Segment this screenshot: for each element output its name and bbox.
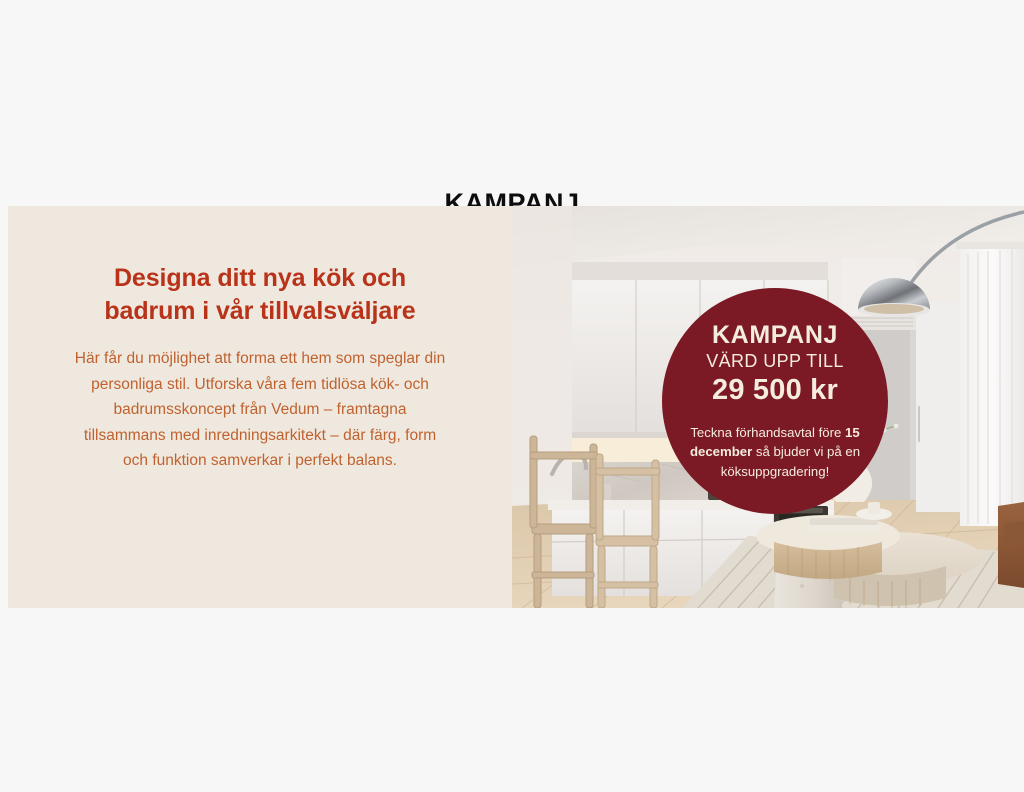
badge-title: KAMPANJ — [712, 321, 838, 349]
campaign-body-text: Här får du möjlighet att forma ett hem s… — [74, 346, 446, 474]
campaign-photo: KAMPANJ VÄRD UPP TILL 29 500 kr Teckna f… — [512, 206, 1024, 608]
campaign-heading: Designa ditt nya kök och badrum i vår ti… — [80, 262, 440, 328]
campaign-card: Designa ditt nya kök och badrum i vår ti… — [8, 206, 1024, 608]
campaign-text-panel: Designa ditt nya kök och badrum i vår ti… — [8, 206, 512, 608]
badge-subtitle: VÄRD UPP TILL — [706, 350, 844, 373]
badge-note-before: Teckna förhandsavtal före — [690, 425, 845, 440]
badge-amount: 29 500 kr — [712, 374, 838, 407]
badge-note: Teckna förhandsavtal före 15 december så… — [682, 423, 868, 482]
campaign-badge: KAMPANJ VÄRD UPP TILL 29 500 kr Teckna f… — [662, 288, 888, 514]
campaign-page: KAMPANJ Designa ditt nya kök och badrum … — [0, 0, 1024, 792]
